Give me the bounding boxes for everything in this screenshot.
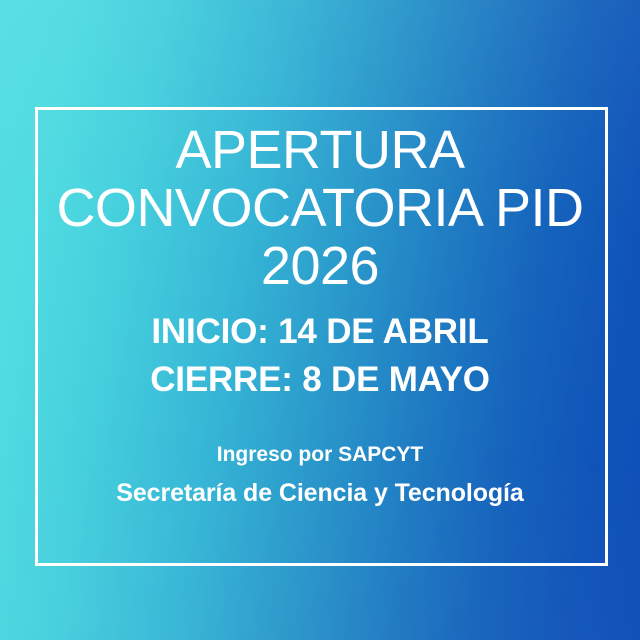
organization-name-text: Secretaría de Ciencia y Tecnología — [116, 477, 523, 510]
poster-canvas: APERTURA CONVOCATORIA PID 2026 INICIO: 1… — [0, 0, 640, 640]
opening-date-text: INICIO: 14 DE ABRIL — [151, 310, 488, 355]
closing-date-text: CIERRE: 8 DE MAYO — [150, 358, 490, 403]
headline-line-year: 2026 — [261, 238, 379, 294]
access-instruction-text: Ingreso por SAPCYT — [217, 441, 424, 468]
headline-line-apertura: APERTURA — [175, 122, 464, 178]
poster-content: APERTURA CONVOCATORIA PID 2026 INICIO: 1… — [0, 0, 640, 640]
headline-line-convocatoria: CONVOCATORIA PID — [56, 180, 583, 236]
